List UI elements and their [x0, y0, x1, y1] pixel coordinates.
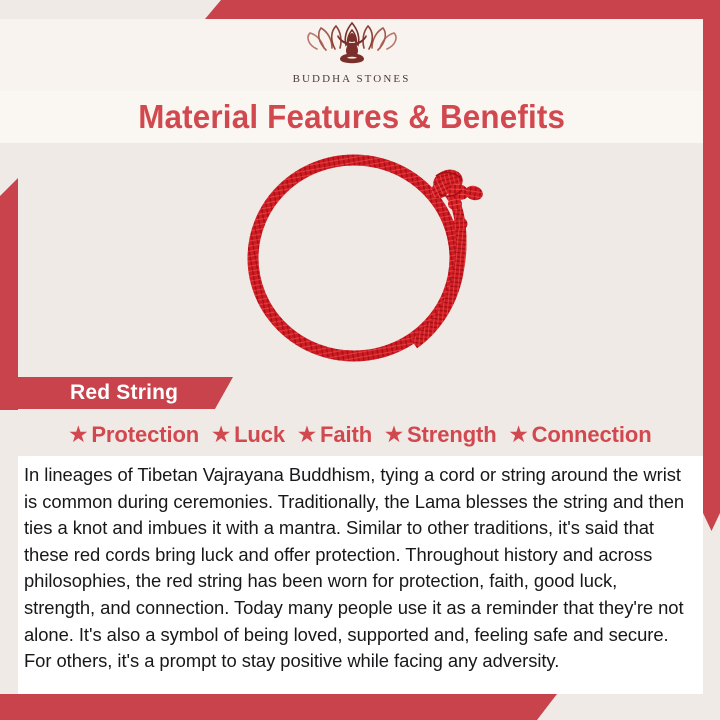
star-icon: ★	[69, 425, 87, 445]
product-name-label: Red String	[70, 381, 178, 405]
benefit-label: Faith	[320, 422, 372, 448]
benefit-item-strength: ★ Strength	[385, 422, 497, 448]
star-icon: ★	[385, 425, 403, 445]
benefit-label: Strength	[407, 422, 497, 448]
benefit-label: Luck	[234, 422, 285, 448]
page-title: Material Features & Benefits	[138, 98, 565, 136]
benefit-item-protection: ★ Protection	[69, 422, 199, 448]
star-icon: ★	[510, 425, 528, 445]
description-panel: In lineages of Tibetan Vajrayana Buddhis…	[18, 456, 703, 694]
benefits-list: ★ Protection ★ Luck ★ Faith ★ Strength ★…	[18, 414, 703, 456]
infographic-page: BUDDHA STONES Material Features & Benefi…	[0, 0, 720, 720]
benefit-label: Connection	[532, 422, 652, 448]
product-name-tab: Red String	[18, 377, 233, 409]
title-banner: Material Features & Benefits	[0, 91, 703, 143]
benefit-item-luck: ★ Luck	[212, 422, 285, 448]
red-braided-string-bracelet	[236, 148, 486, 371]
brand-header: BUDDHA STONES	[0, 19, 703, 91]
left-accent-bar	[0, 178, 18, 410]
benefit-item-connection: ★ Connection	[510, 422, 652, 448]
benefit-item-faith: ★ Faith	[298, 422, 372, 448]
top-accent-bar	[205, 0, 720, 19]
product-image-area	[18, 143, 703, 375]
lotus-meditation-icon	[300, 21, 404, 72]
bottom-accent-bar	[0, 694, 557, 720]
star-icon: ★	[212, 425, 230, 445]
right-accent-bar	[703, 19, 720, 531]
benefit-label: Protection	[91, 422, 199, 448]
star-icon: ★	[298, 425, 316, 445]
brand-name: BUDDHA STONES	[293, 73, 411, 85]
description-text: In lineages of Tibetan Vajrayana Buddhis…	[24, 462, 689, 675]
